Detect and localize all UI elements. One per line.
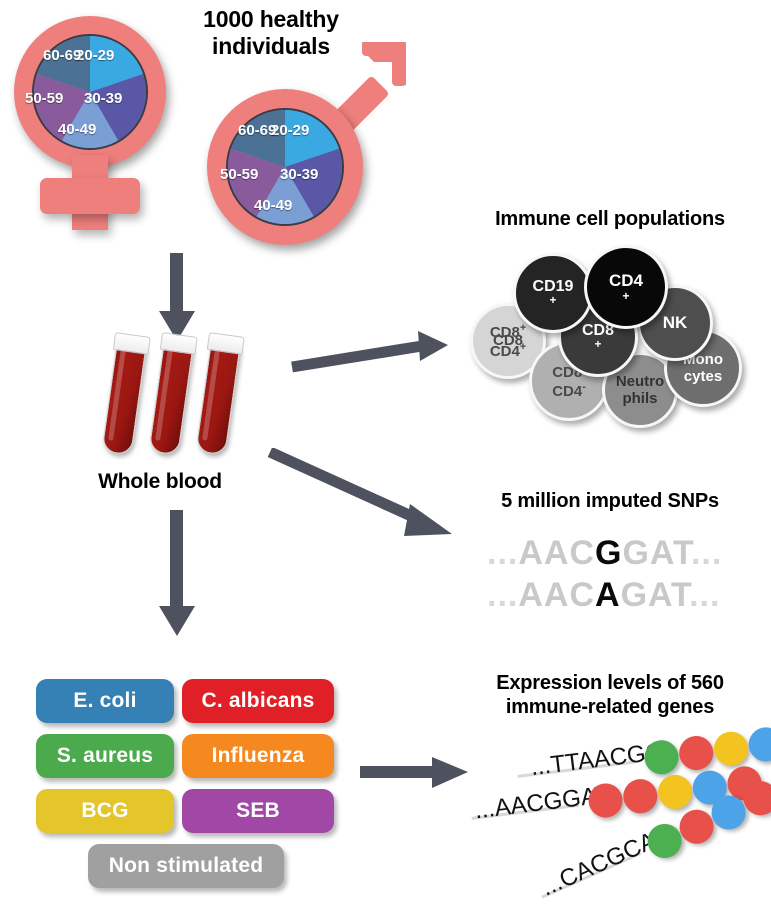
pie-label-30-39: 30-39 bbox=[84, 90, 122, 107]
snp-row-allele-a: ...AACAGAT... bbox=[487, 576, 720, 615]
pie-label-40-49: 40-49 bbox=[58, 121, 96, 138]
page-title-individuals: 1000 healthy individuals bbox=[176, 6, 366, 60]
label-whole-blood: Whole blood bbox=[60, 470, 260, 495]
nucleotide-dot bbox=[747, 725, 771, 763]
pie-label-60-69: 60-69 bbox=[43, 47, 81, 64]
section-title-immune-cells: Immune cell populations bbox=[450, 208, 770, 232]
blood-tube bbox=[193, 332, 247, 471]
section-title-expression: Expression levels of 560 immune-related … bbox=[455, 672, 765, 719]
cd4-label: CD4 bbox=[609, 272, 643, 290]
pie-label-40-49: 40-49 bbox=[254, 197, 292, 214]
stimulation-seb[interactable]: SEB bbox=[182, 789, 334, 833]
stimulation-influenza[interactable]: Influenza bbox=[182, 734, 334, 778]
snp-right: GAT bbox=[622, 534, 690, 572]
blood-tube bbox=[99, 332, 153, 471]
stimulation-c-albicans[interactable]: C. albicans bbox=[182, 679, 334, 723]
blood-tube bbox=[146, 332, 200, 471]
stimulation-s-aureus[interactable]: S. aureus bbox=[36, 734, 174, 778]
nucleotide-dot bbox=[712, 730, 750, 768]
nucleotide-dot bbox=[677, 734, 715, 772]
nucleotide-dot bbox=[621, 777, 659, 815]
arrow-blood-to-snps bbox=[268, 448, 458, 548]
pie-label-30-39: 30-39 bbox=[280, 166, 318, 183]
snp-row-allele-g: ...AACGGAT... bbox=[487, 534, 722, 573]
plus-sup: + bbox=[533, 295, 574, 307]
stimulation-bcg[interactable]: BCG bbox=[36, 789, 174, 833]
plus-sup: + bbox=[582, 339, 614, 351]
arrow-stimulations-to-expression bbox=[360, 752, 472, 794]
pie-label-20-29: 20-29 bbox=[76, 47, 114, 64]
snp-left: AAC bbox=[518, 576, 595, 614]
nucleotide-dot bbox=[656, 773, 694, 811]
snp-variant: G bbox=[595, 534, 622, 572]
arrow-blood-to-immune bbox=[290, 325, 450, 375]
arrow-blood-to-stimulations bbox=[155, 510, 199, 640]
pie-label-20-29: 20-29 bbox=[271, 122, 309, 139]
cell-cd4pos: CD4+ bbox=[584, 245, 668, 329]
snp-left: AAC bbox=[518, 534, 595, 572]
arrow-cohort-to-blood bbox=[155, 253, 199, 343]
stimulation-e-coli[interactable]: E. coli bbox=[36, 679, 174, 723]
stimulation-non-stimulated[interactable]: Non stimulated bbox=[88, 844, 284, 888]
snp-right: GAT bbox=[621, 576, 689, 614]
snp-suffix: ... bbox=[689, 576, 720, 614]
pie-label-50-59: 50-59 bbox=[220, 166, 258, 183]
section-title-snps: 5 million imputed SNPs bbox=[450, 490, 770, 514]
snp-variant: A bbox=[595, 576, 621, 614]
female-symbol-crossbar bbox=[40, 178, 140, 214]
snp-suffix: ... bbox=[691, 534, 722, 572]
cell-cd19pos: CD19+ bbox=[513, 253, 593, 333]
cell-label-line1: CD8 bbox=[493, 333, 523, 348]
pie-label-50-59: 50-59 bbox=[25, 90, 63, 107]
snp-prefix: ... bbox=[487, 534, 518, 572]
cd19-label: CD19 bbox=[533, 279, 574, 296]
snp-prefix: ... bbox=[487, 576, 518, 614]
nk-label: NK bbox=[663, 314, 688, 331]
expression-strand-1: ...TTAACGG bbox=[516, 730, 771, 762]
plus-sup: + bbox=[609, 290, 643, 303]
pie-label-60-69: 60-69 bbox=[238, 122, 276, 139]
